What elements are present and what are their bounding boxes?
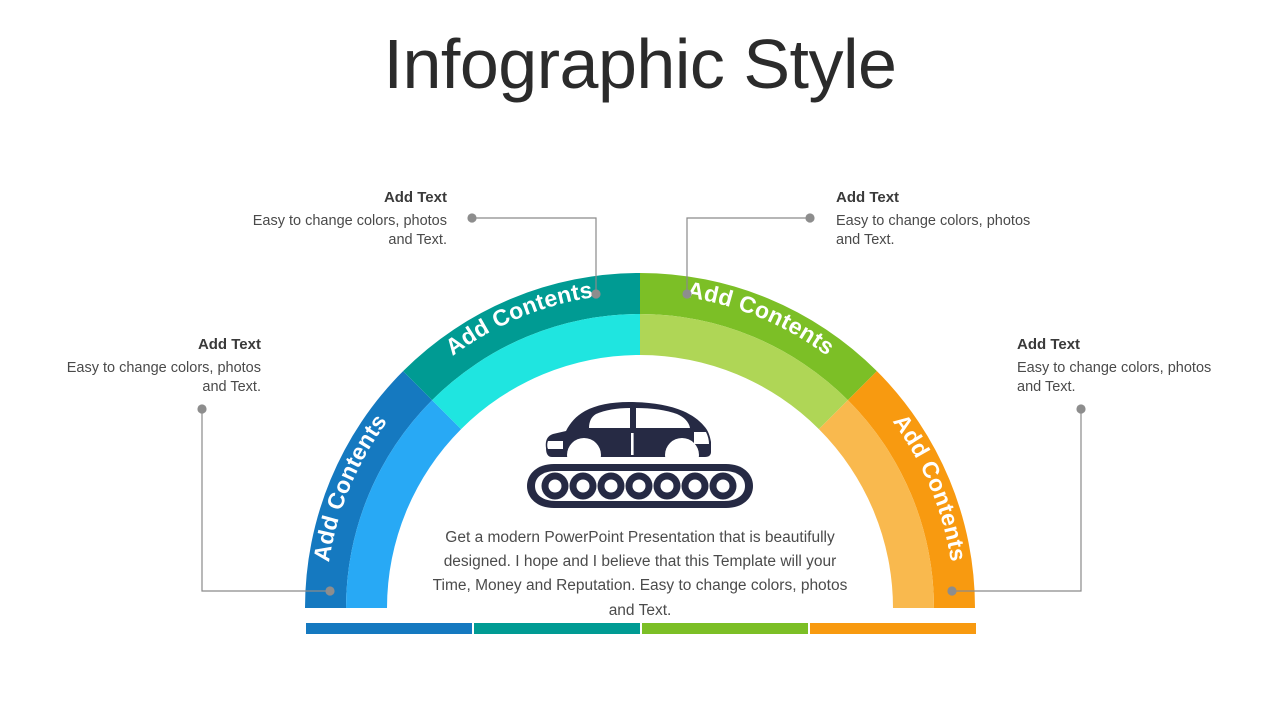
connector-dot-arc-top-right <box>682 289 691 298</box>
bottom-bar-segment-green <box>642 623 808 634</box>
car-on-conveyor-icon <box>527 402 753 508</box>
connector-dot-arc-top-left <box>591 289 600 298</box>
center-body-text: Get a modern PowerPoint Presentation tha… <box>425 526 855 623</box>
callout-top-right[interactable]: Add Text Easy to change colors, photos a… <box>836 189 1046 250</box>
connector-dot-label-top-left <box>467 213 476 222</box>
bottom-color-bar <box>306 623 976 634</box>
callout-top-left-title: Add Text <box>237 189 447 207</box>
callout-mid-right-title: Add Text <box>1017 336 1227 354</box>
callout-mid-right-desc: Easy to change colors, photos and Text. <box>1017 359 1227 397</box>
bottom-bar-segment-blue <box>306 623 472 634</box>
connector-dot-arc-mid-left <box>325 586 334 595</box>
connector-dot-label-mid-left <box>197 404 206 413</box>
infographic-slide: Infographic Style <box>0 0 1280 720</box>
callout-top-left[interactable]: Add Text Easy to change colors, photos a… <box>237 189 447 250</box>
callout-top-right-title: Add Text <box>836 189 1046 207</box>
connector-dot-label-mid-right <box>1076 404 1085 413</box>
callout-mid-right[interactable]: Add Text Easy to change colors, photos a… <box>1017 336 1227 397</box>
connector-dot-label-top-right <box>805 213 814 222</box>
connector-dot-arc-mid-right <box>947 586 956 595</box>
callout-top-left-desc: Easy to change colors, photos and Text. <box>237 212 447 250</box>
callout-top-right-desc: Easy to change colors, photos and Text. <box>836 212 1046 250</box>
bottom-bar-segment-orange <box>810 623 976 634</box>
callout-mid-left-title: Add Text <box>51 336 261 354</box>
callout-mid-left-desc: Easy to change colors, photos and Text. <box>51 359 261 397</box>
callout-mid-left[interactable]: Add Text Easy to change colors, photos a… <box>51 336 261 397</box>
bottom-bar-segment-teal <box>474 623 640 634</box>
